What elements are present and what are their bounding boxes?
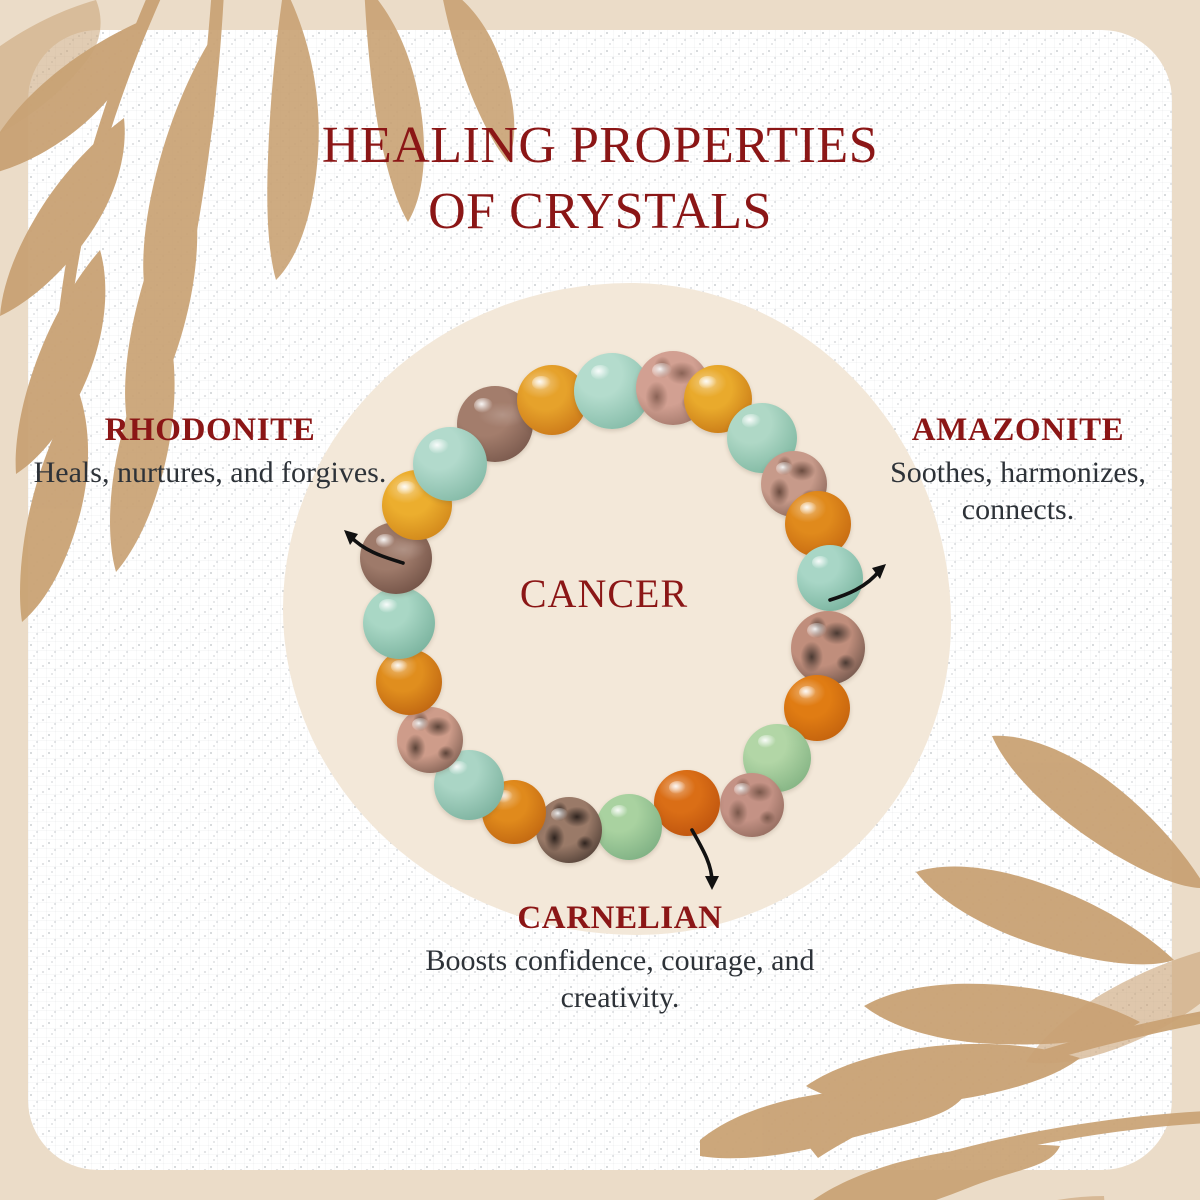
bead-carnelian [654,770,720,836]
bead-amazonite [363,587,435,659]
gem-name-carnelian: CARNELIAN [420,900,820,936]
bead-highlight [397,481,415,495]
bead-highlight [742,414,760,428]
leaf-br-soft-2 [886,1196,1110,1200]
bead-highlight [652,363,671,378]
bead-highlight [591,365,611,380]
gem-callout-rhodonite: RHODONITE Heals, nurtures, and forgives. [20,412,400,491]
bead-highlight [532,376,550,390]
title-line-1: HEALING PROPERTIES [0,113,1200,180]
gem-description-carnelian: Boosts confidence, courage, and creativi… [420,942,820,1016]
zodiac-label: CANCER [439,570,769,617]
bead-highlight [611,805,628,818]
bead-highlight [807,623,826,638]
bead-rhodonite [791,611,865,685]
gem-name-amazonite: AMAZONITE [868,412,1168,448]
bead-amazonite [596,794,662,860]
bead-highlight [776,462,793,475]
bead-highlight [551,808,568,821]
bead-highlight [429,439,448,454]
gem-name-rhodonite: RHODONITE [20,412,400,448]
bead-rhodonite [536,797,602,863]
bead-carnelian [376,649,442,715]
bead-highlight [391,660,408,673]
title-line-2: OF CRYSTALS [0,179,1200,246]
bead-highlight [474,398,494,413]
bead-highlight [799,686,816,699]
bead-amazonite [797,545,863,611]
gem-callout-amazonite: AMAZONITE Soothes, harmonizes, connects. [868,412,1168,529]
bead-highlight [800,502,817,515]
gem-callout-carnelian: CARNELIAN Boosts confidence, courage, an… [420,900,820,1017]
bead-highlight [376,534,395,548]
bead-highlight [699,376,717,390]
gem-description-amazonite: Soothes, harmonizes, connects. [868,454,1168,528]
bead-highlight [758,735,776,749]
bead-rhodonite [397,707,463,773]
bead-rhodonite [720,773,784,837]
bead-highlight [734,783,751,796]
bead-amazonite [413,427,487,501]
leaf-br-7 [716,1182,940,1200]
infographic-canvas: HEALING PROPERTIES OF CRYSTALS CANCER RH… [0,0,1200,1200]
bead-highlight [812,556,829,569]
page-title: HEALING PROPERTIES OF CRYSTALS [0,113,1200,246]
gem-description-rhodonite: Heals, nurtures, and forgives. [20,454,400,491]
bead-highlight [669,781,686,794]
bead-highlight [379,599,398,613]
bead-highlight [412,718,429,731]
